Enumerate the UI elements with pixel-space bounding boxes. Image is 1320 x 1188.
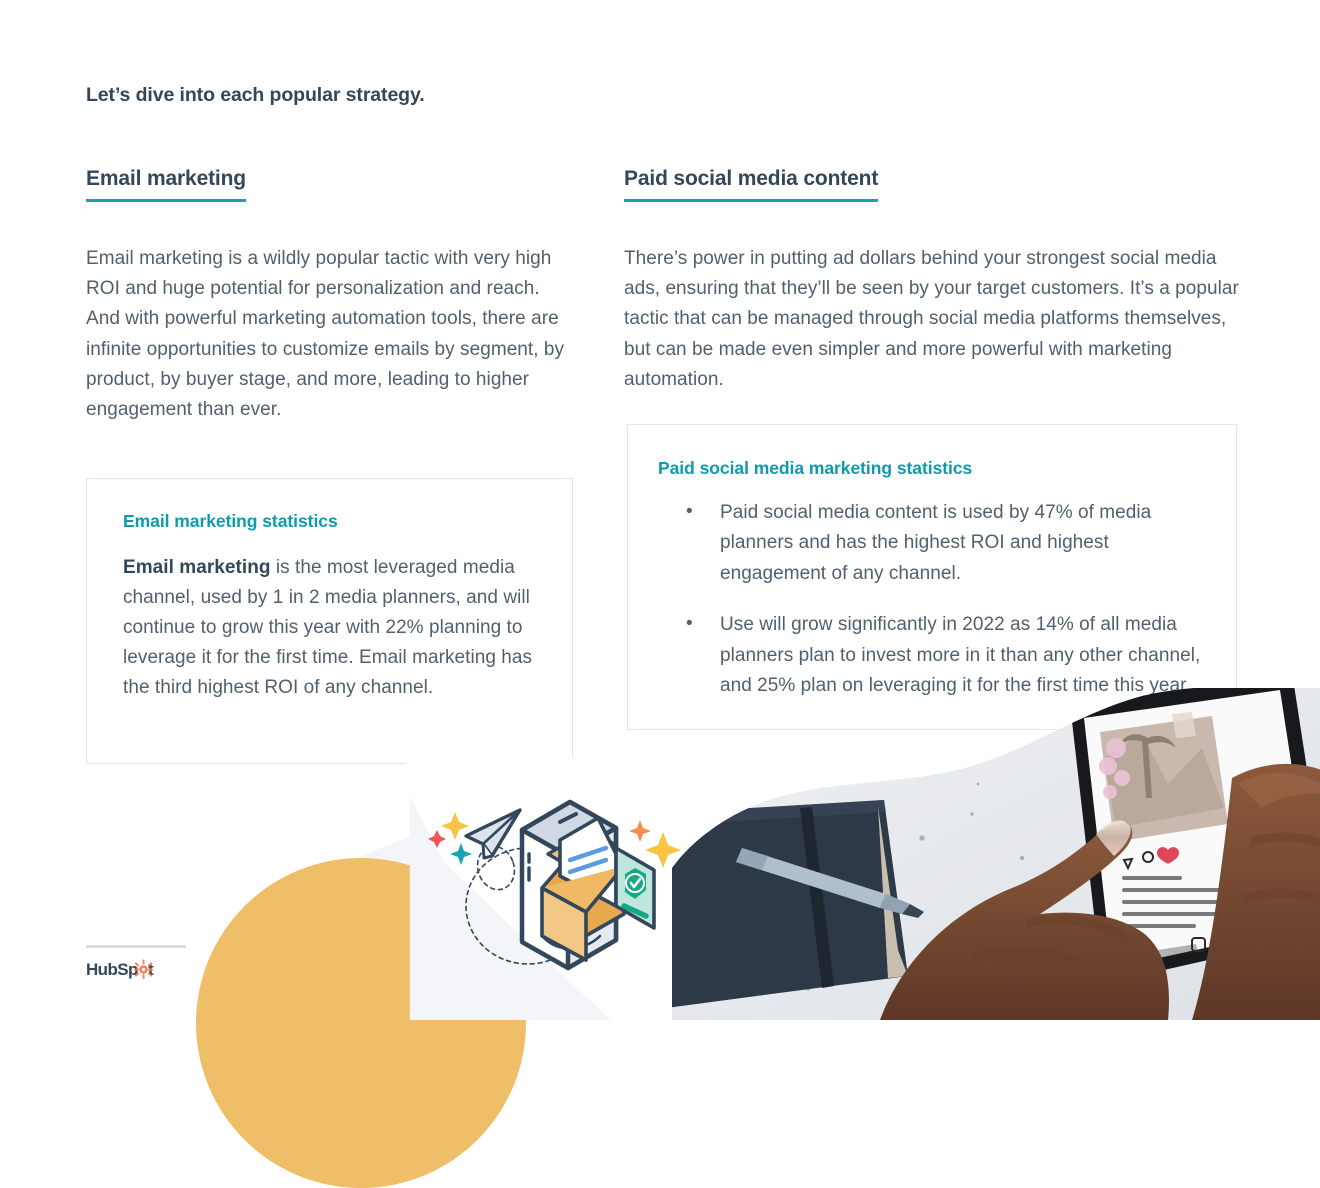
section-heading-email-marketing: Email marketing bbox=[86, 168, 246, 202]
right-column: Paid social media content There’s power … bbox=[624, 168, 1239, 395]
left-column: Email marketing Email marketing is a wil… bbox=[86, 168, 566, 425]
intro-line: Let’s dive into each popular strategy. bbox=[86, 84, 425, 107]
list-item: •Paid social media content is used by 47… bbox=[658, 498, 1218, 589]
right-column-body: There’s power in putting ad dollars behi… bbox=[624, 202, 1239, 395]
bullet-glyph: • bbox=[686, 609, 693, 639]
hands-holding-phone-instagram-photo bbox=[672, 688, 1320, 1020]
paid-social-statistics-box: Paid social media marketing statistics •… bbox=[627, 424, 1237, 730]
stat-box-lead-bold: Email marketing bbox=[123, 557, 271, 578]
list-item-text: Use will grow significantly in 2022 as 1… bbox=[720, 614, 1200, 696]
list-item-text: Paid social media content is used by 47%… bbox=[720, 502, 1151, 584]
footer-divider bbox=[86, 945, 186, 948]
email-marketing-statistics-box: Email marketing statistics Email marketi… bbox=[86, 478, 573, 764]
left-column-body: Email marketing is a wildly popular tact… bbox=[86, 202, 566, 425]
hubspot-logo: HubSp t bbox=[86, 958, 166, 980]
stat-box-paragraph: Email marketing is the most leveraged me… bbox=[123, 553, 555, 703]
document-page: Let’s dive into each popular strategy. E… bbox=[0, 0, 1320, 1020]
bullet-glyph: • bbox=[686, 497, 693, 527]
stat-box-title: Paid social media marketing statistics bbox=[658, 458, 972, 479]
stat-box-paragraph-rest: is the most leveraged media channel, use… bbox=[123, 557, 532, 698]
svg-text:HubSp: HubSp bbox=[86, 960, 138, 979]
stat-box-title: Email marketing statistics bbox=[123, 511, 338, 532]
section-heading-paid-social: Paid social media content bbox=[624, 168, 878, 202]
email-on-phone-illustration bbox=[420, 788, 700, 993]
